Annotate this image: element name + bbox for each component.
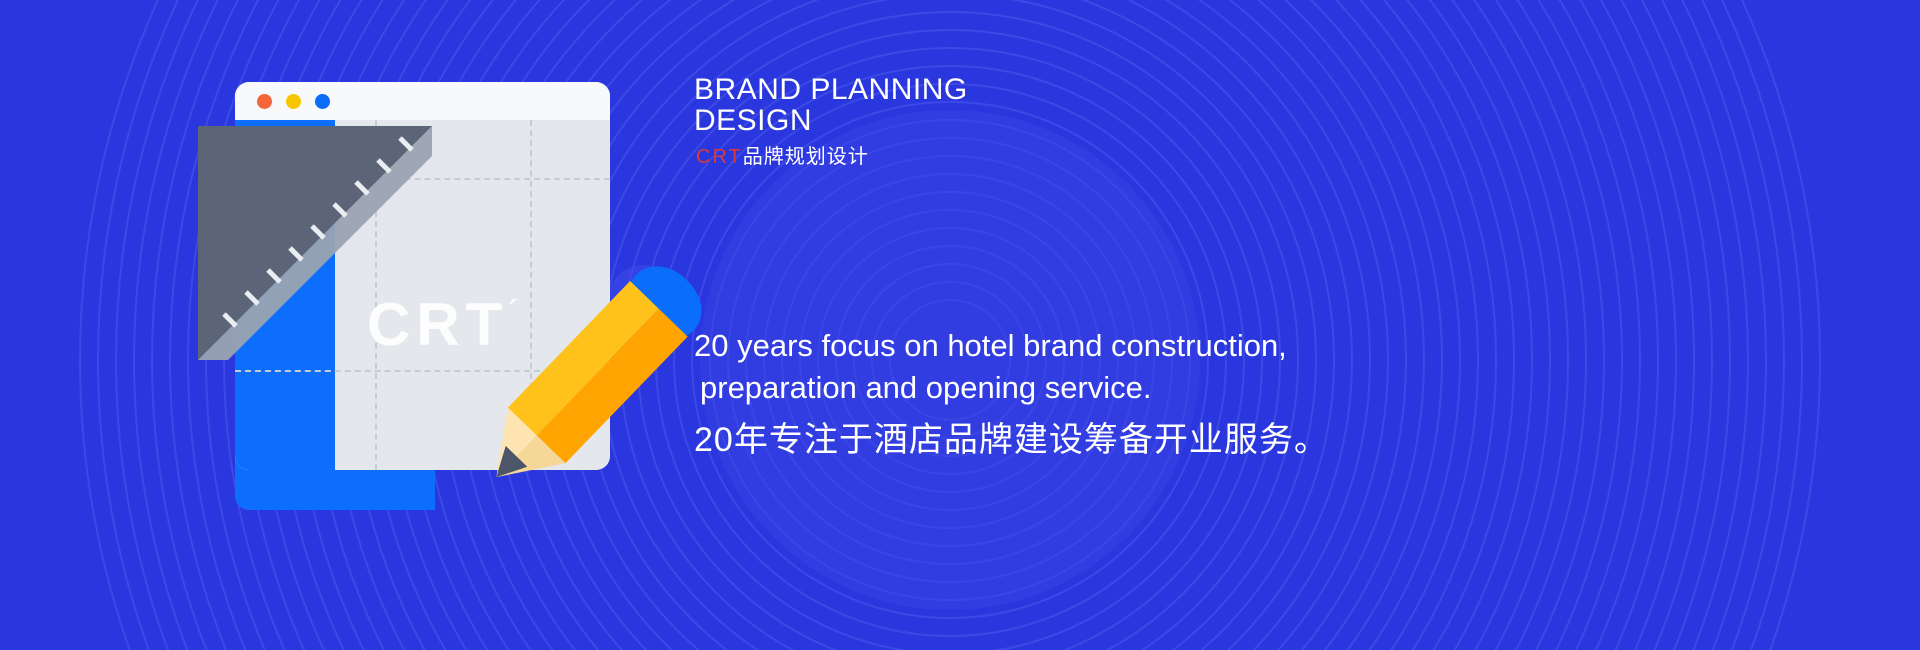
page-title: BRAND PLANNING DESIGN (694, 74, 1314, 136)
brand-subtitle: CRT品牌规划设计 (696, 140, 869, 169)
tagline-en: 20 years focus on hotel brand constructi… (694, 325, 1394, 409)
tagline-en-line-2: preparation and opening service. (694, 367, 1394, 409)
close-dot-icon (257, 94, 272, 109)
heading-line-2: DESIGN (694, 105, 1314, 136)
brand-subtitle-cn: 品牌规划设计 (743, 146, 869, 168)
triangle-ruler-icon (190, 118, 440, 368)
pencil-icon (480, 225, 710, 525)
minimize-dot-icon (286, 94, 301, 109)
tagline-cn: 20年专注于酒店品牌建设筹备开业服务。 (694, 412, 1329, 461)
copy-block: BRAND PLANNING DESIGN CRT品牌规划设计 20 years… (694, 0, 1794, 650)
brand-banner: CRT´ (0, 0, 1920, 650)
browser-titlebar (235, 82, 610, 120)
brand-subtitle-crt: CRT (696, 146, 743, 168)
maximize-dot-icon (315, 94, 330, 109)
tagline-en-line-1: 20 years focus on hotel brand constructi… (694, 328, 1287, 363)
heading-line-1: BRAND PLANNING (694, 74, 1314, 105)
